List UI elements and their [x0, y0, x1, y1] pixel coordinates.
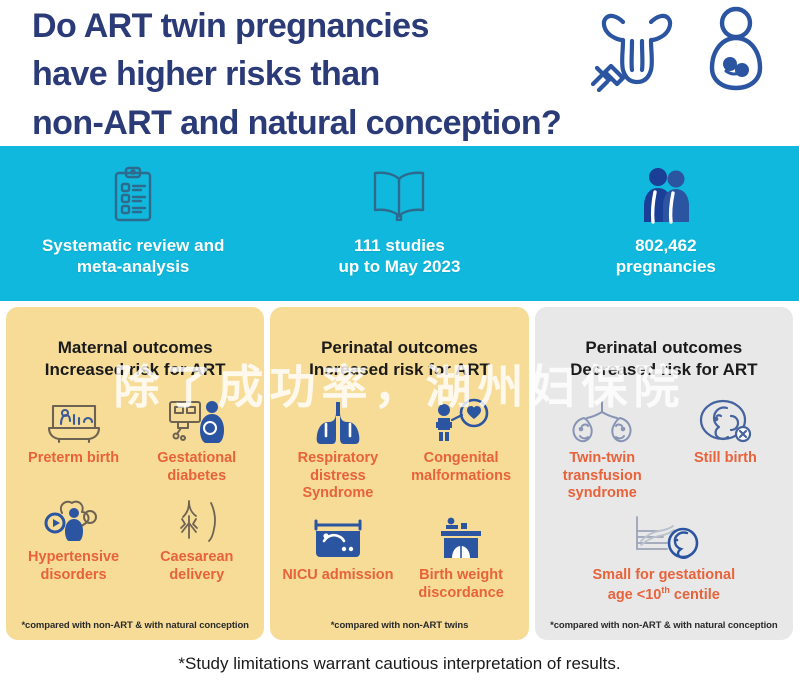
glucose-monitor-pregnant-icon [166, 392, 228, 444]
stat-label: Systematic review and meta-analysis [42, 235, 224, 278]
outcome-label: Birth weight discordance [418, 567, 503, 602]
footer: *Study limitations warrant cautious inte… [0, 643, 799, 684]
twin-fetuses-placenta-icon [566, 392, 638, 444]
page-title: Do ART twin pregnancies have higher risk… [32, 2, 612, 147]
outcome-label: Still birth [694, 450, 757, 468]
panel-footnote: *compared with non-ART twins [270, 620, 528, 631]
outcome-item-congenital-malformations: Congenital malformations [399, 392, 522, 503]
nicu-bed-icon [310, 509, 366, 561]
panel-title: Perinatal outcomes Decreased risk for AR… [570, 337, 757, 382]
panel-footnote: *compared with non-ART & with natural co… [6, 620, 264, 631]
outcome-label: Respiratory distress Syndrome [276, 450, 399, 503]
growth-chart-fetus-icon [619, 509, 709, 561]
page-title-line-3: non-ART and natural conception? [32, 99, 612, 147]
stat-pregnancies-count: 802,462 pregnancies [533, 146, 799, 278]
stat-label: 802,462 pregnancies [616, 235, 716, 278]
pregnant-twins-icon [701, 6, 771, 97]
clipboard-checklist-icon [110, 164, 156, 226]
outcome-label: Preterm birth [28, 450, 119, 468]
outcome-item-caesarean-delivery: Caesarean delivery [135, 491, 258, 584]
outcome-item-respiratory-distress: Respiratory distress Syndrome [276, 392, 399, 503]
stat-studies-count: 111 studies up to May 2023 [266, 146, 532, 278]
incubator-cot-icon [45, 392, 103, 444]
panel-perinatal-decreased: Perinatal outcomes Decreased risk for AR… [535, 307, 793, 640]
panel-perinatal-increased: Perinatal outcomes Increased risk for AR… [270, 307, 528, 640]
outcome-item-birth-weight-discordance: Birth weight discordance [399, 509, 522, 602]
outcome-label: Gestational diabetes [157, 450, 236, 485]
outcome-item-still-birth: Still birth [664, 392, 787, 503]
lungs-icon [310, 392, 366, 444]
header: Do ART twin pregnancies have higher risk… [0, 0, 799, 146]
uterus-syringe-icon [581, 8, 677, 97]
stat-label: 111 studies up to May 2023 [339, 235, 461, 278]
panel-title: Perinatal outcomes Increased risk for AR… [309, 337, 490, 382]
stat-systematic-review: Systematic review and meta-analysis [0, 146, 266, 278]
outcome-item-hypertensive-disorders: Hypertensive disorders [12, 491, 135, 584]
outcome-label: NICU admission [282, 567, 393, 585]
outcome-label: Congenital malformations [411, 450, 511, 485]
study-limitations-note: *Study limitations warrant cautious inte… [178, 654, 620, 674]
panel-maternal-outcomes: Maternal outcomes Increased risk for ART… [6, 307, 264, 640]
outcome-label: Caesarean delivery [160, 549, 233, 584]
header-icon-group [581, 6, 781, 92]
outcome-label: Small for gestationalage <10th centile [593, 567, 736, 604]
stats-band: Systematic review and meta-analysis 111 … [0, 146, 799, 301]
caesarean-incision-icon [171, 491, 223, 543]
outcome-item-nicu-admission: NICU admission [276, 509, 399, 602]
panel-items-grid: Twin-twin transfusion syndrome Still bir… [541, 392, 787, 604]
baby-heart-icon [430, 392, 492, 444]
page-title-line-1: Do ART twin pregnancies [32, 2, 612, 50]
open-book-icon [369, 164, 429, 226]
outcome-label: Hypertensive disorders [28, 549, 119, 584]
fetus-cross-icon [697, 392, 753, 444]
panel-footnote: *compared with non-ART & with natural co… [535, 620, 793, 631]
panel-title: Maternal outcomes Increased risk for ART [45, 337, 226, 382]
panel-items-grid: Preterm birth [12, 392, 258, 585]
outcome-panels: Maternal outcomes Increased risk for ART… [0, 301, 799, 643]
baby-scale-icon [435, 509, 487, 561]
outcome-item-gestational-diabetes: Gestational diabetes [135, 392, 258, 485]
outcome-item-twin-twin-transfusion: Twin-twin transfusion syndrome [541, 392, 664, 503]
panel-items-grid: Respiratory distress Syndrome [276, 392, 522, 602]
outcome-item-small-for-gestational-age: Small for gestationalage <10th centile [541, 509, 787, 604]
page-title-line-2: have higher risks than [32, 50, 612, 98]
outcome-label: Twin-twin transfusion syndrome [563, 450, 642, 503]
outcome-item-preterm-birth: Preterm birth [12, 392, 135, 485]
blood-pressure-pregnant-icon [42, 491, 106, 543]
two-people-icon [639, 164, 693, 226]
